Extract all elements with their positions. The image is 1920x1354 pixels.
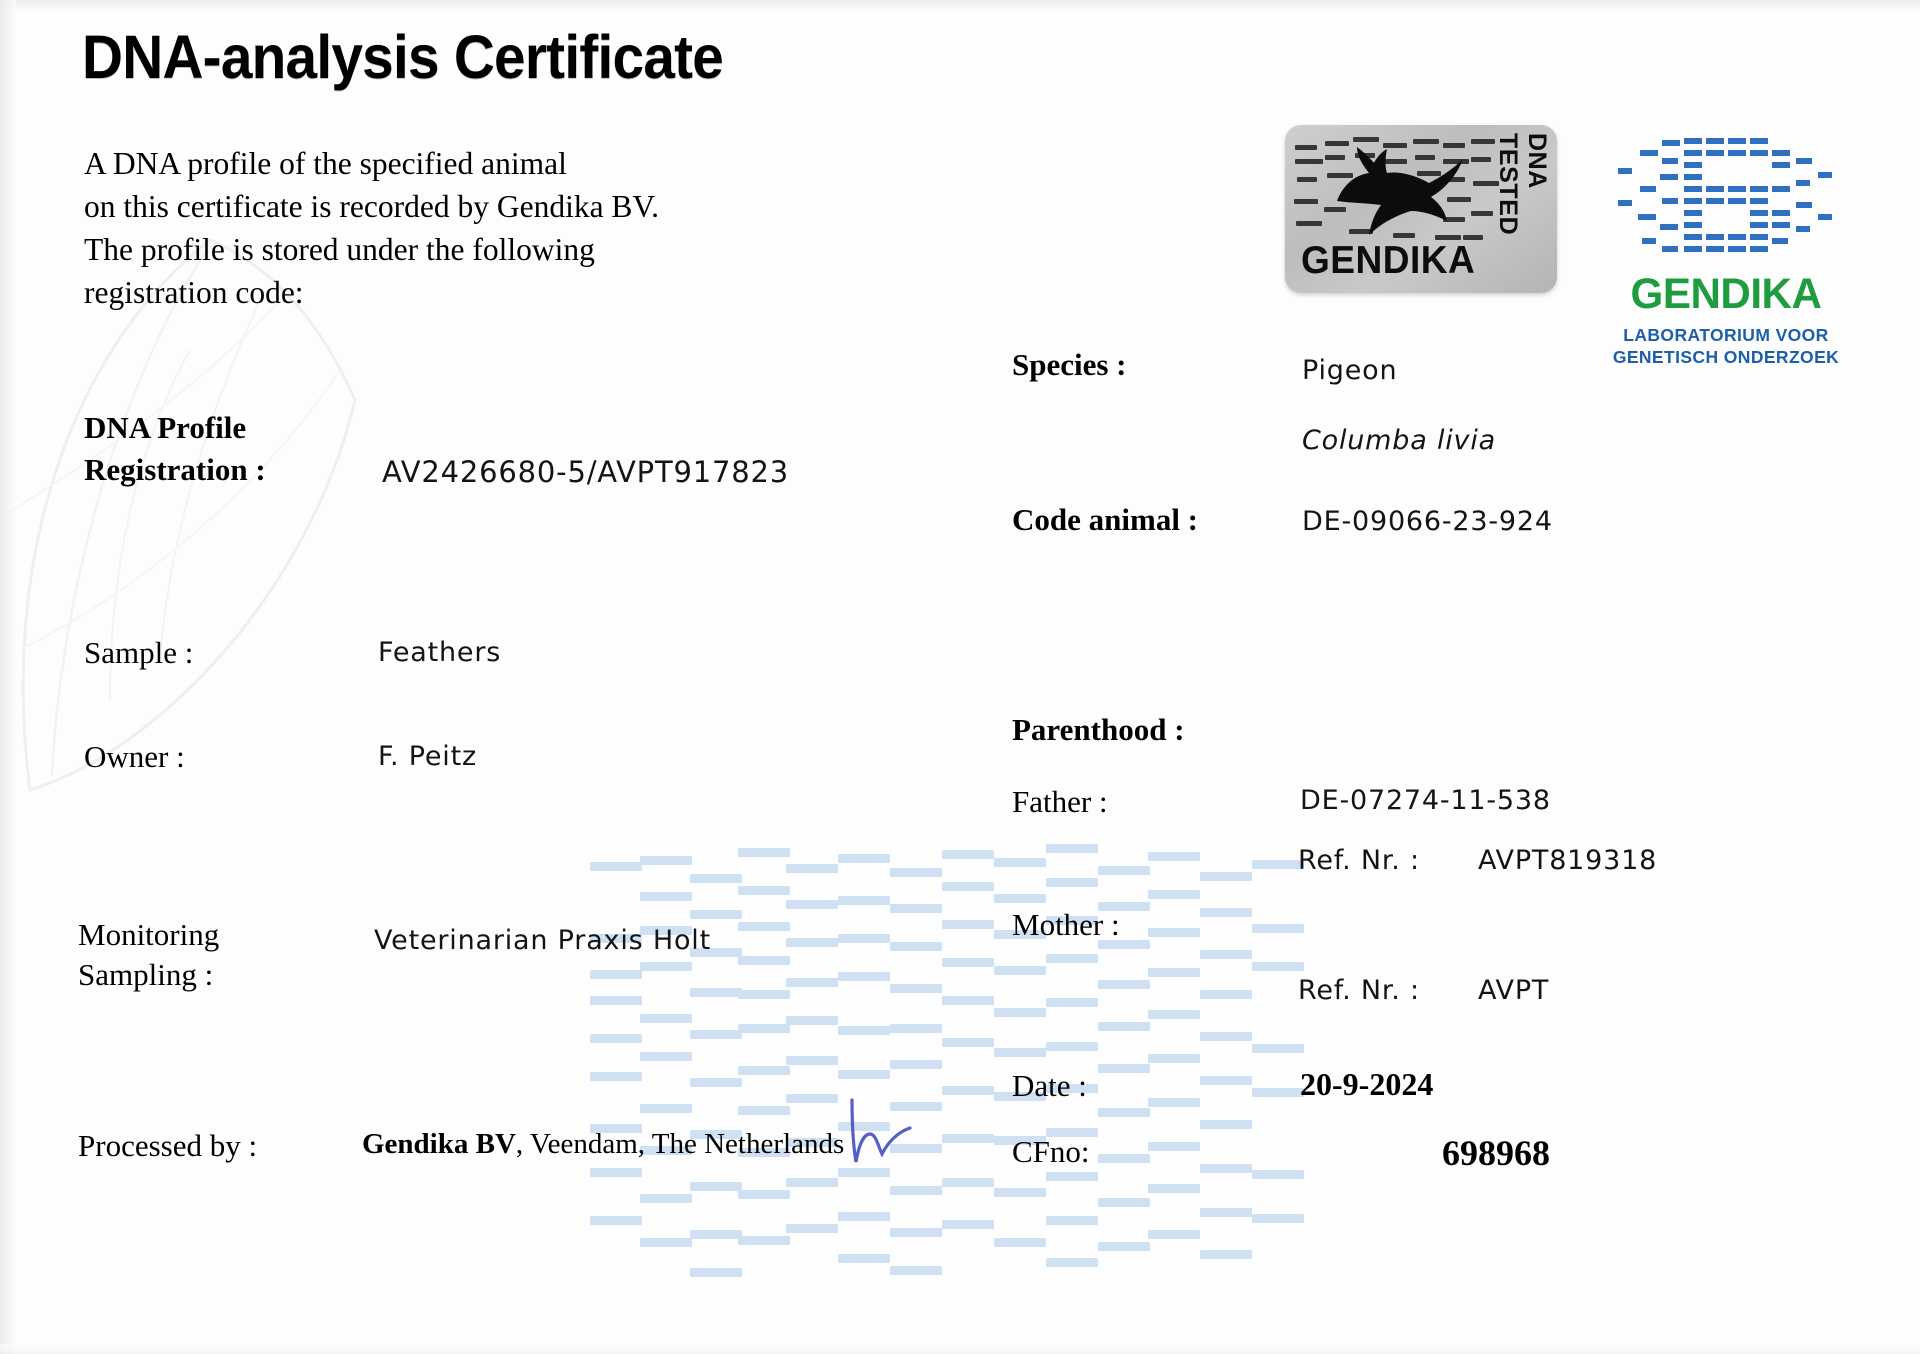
logo-tagline-line2: GENETISCH ONDERZOEK [1612,346,1840,368]
cfno-label: CFno: [1012,1132,1090,1172]
dna-gel-watermark [590,838,1310,1308]
code-animal-label: Code animal : [1012,500,1198,540]
signature-mark [838,1092,924,1178]
flying-bird-icon [1329,141,1467,245]
gendika-logo: GENDIKA LABORATORIUM VOOR GENETISCH ONDE… [1612,128,1840,386]
mother-ref-value: AVPT [1478,975,1549,1006]
green-feather-watermark [0,230,480,870]
mother-label: Mother : [1012,905,1120,945]
father-value: DE-07274-11-538 [1300,785,1551,816]
registration-value: AV2426680-5/AVPT917823 [382,455,789,489]
paper-edge-bottom [0,1344,1920,1354]
father-ref-label: Ref. Nr. : [1298,845,1420,876]
species-label: Species : [1012,345,1127,385]
registration-label-line1: DNA Profile [84,408,246,448]
logo-wordmark: GENDIKA [1614,270,1837,319]
species-scientific-name: Columba livia [1302,425,1496,456]
processed-by-company: Gendika BV [362,1128,516,1160]
monitoring-label-line2: Sampling : [78,955,213,995]
dna-tested-sticker: GENDIKA DNA TESTED [1285,125,1557,293]
species-common-name: Pigeon [1302,355,1397,386]
processed-by-location: , Veendam, The Netherlands [516,1128,844,1160]
intro-line-1: A DNA profile of the specified animal [84,142,659,185]
date-label: Date : [1012,1066,1087,1106]
cfno-value: 698968 [1442,1132,1550,1174]
intro-paragraph: A DNA profile of the specified animal on… [84,142,659,314]
mother-ref-label: Ref. Nr. : [1298,975,1420,1006]
processed-by-value: Gendika BV, Veendam, The Netherlands [362,1128,844,1161]
intro-line-2: on this certificate is recorded by Gendi… [84,185,659,228]
gendika-g-mark-icon [1612,128,1840,268]
sticker-dna-tested-text: DNA TESTED [1493,133,1551,285]
monitoring-label-line1: Monitoring [78,915,219,955]
logo-tagline: LABORATORIUM VOOR GENETISCH ONDERZOEK [1612,324,1840,368]
intro-line-4: registration code: [84,271,659,314]
sticker-wordmark: GENDIKA [1301,239,1475,283]
certificate-page: DNA-analysis Certificate A DNA profile o… [0,0,1920,1354]
registration-label-line2: Registration : [84,450,266,490]
paper-edge-top [0,0,1920,14]
father-ref-value: AVPT819318 [1478,845,1657,876]
owner-value: F. Peitz [378,741,477,772]
paper-edge-left [0,0,16,1354]
sample-label: Sample : [84,633,193,673]
intro-line-3: The profile is stored under the followin… [84,228,659,271]
sample-value: Feathers [378,637,501,668]
parenthood-label: Parenthood : [1012,710,1185,750]
code-animal-value: DE-09066-23-924 [1302,506,1553,537]
processed-by-label: Processed by : [78,1126,257,1166]
page-title: DNA-analysis Certificate [82,22,723,92]
father-label: Father : [1012,782,1108,822]
monitoring-value: Veterinarian Praxis Holt [374,925,711,956]
owner-label: Owner : [84,737,185,777]
date-value: 20-9-2024 [1300,1066,1433,1103]
logo-tagline-line1: LABORATORIUM VOOR [1612,324,1840,346]
